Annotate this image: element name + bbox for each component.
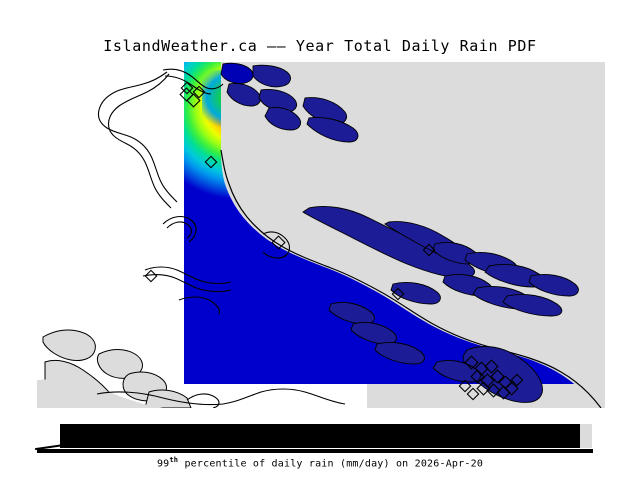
screenshot-root: IslandWeather.ca —— Year Total Daily Rai…: [0, 0, 640, 480]
inlet-mid-3: [375, 342, 424, 364]
page-title: IslandWeather.ca —— Year Total Daily Rai…: [0, 37, 640, 55]
colorbar-gradient: [60, 424, 580, 448]
coastline-hook-a: [167, 222, 192, 238]
inlet-mid-1: [329, 302, 374, 324]
inlet-mid-2: [351, 322, 396, 344]
coastline-south-bay: [187, 394, 219, 408]
caption-text: percentile of daily rain (mm/day) on 202…: [178, 458, 483, 469]
coastline-channel-mid: [145, 267, 231, 284]
coastline-channel-mid-3: [179, 297, 220, 314]
colorbar-caption: 99th percentile of daily rain (mm/day) o…: [0, 456, 640, 469]
caption-percentile-suffix: th: [169, 456, 178, 464]
colorbar-out-of-range-segment: [580, 424, 592, 448]
coastline-and-land-layer: [37, 62, 605, 408]
coastline-inlet-north: [98, 72, 177, 202]
caption-percentile-number: 99: [157, 458, 169, 469]
station-marker: [467, 388, 478, 399]
station-marker: [145, 270, 156, 281]
coastline-inlet-north-2: [108, 74, 171, 208]
land-west-island-2: [43, 330, 95, 361]
colorbar-axis-line: [37, 449, 593, 453]
station-marker: [205, 156, 216, 167]
map-panel[interactable]: [37, 62, 605, 408]
